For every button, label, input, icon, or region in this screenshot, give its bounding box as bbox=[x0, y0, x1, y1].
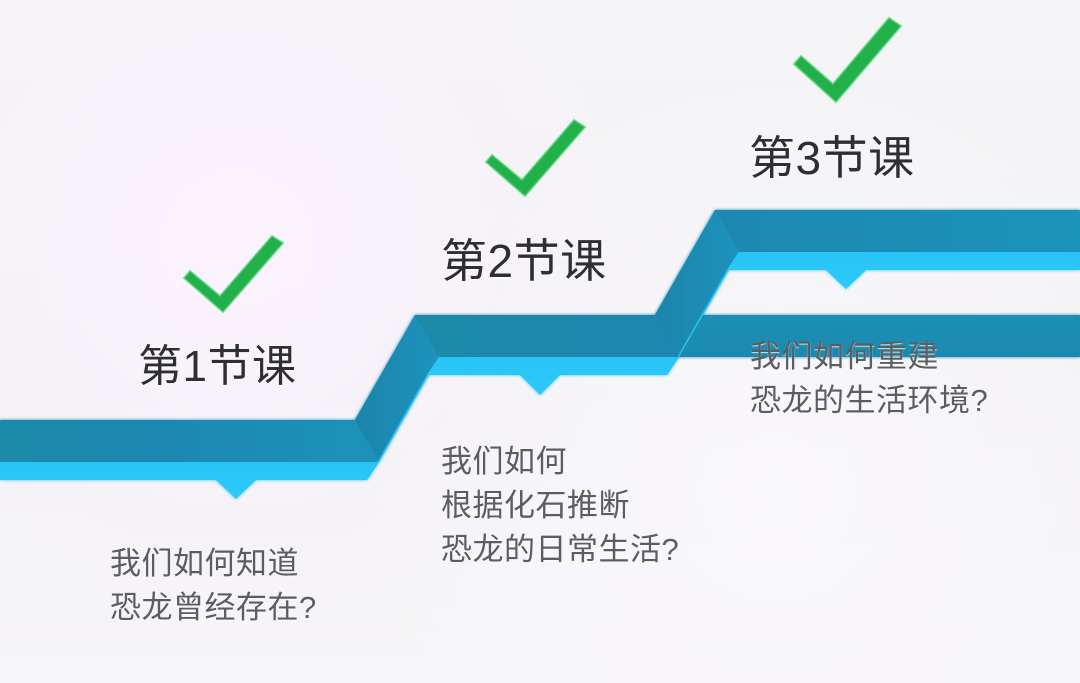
step-2-caption: 我们如何 根据化石推断 恐龙的日常生活? bbox=[441, 440, 679, 572]
step-1-caption: 我们如何知道 恐龙曾经存在? bbox=[110, 542, 317, 630]
green-check-icon bbox=[176, 232, 290, 316]
step-2-caption-line-3: 恐龙的日常生活? bbox=[441, 528, 679, 572]
step-3-caption: 我们如何重建 恐龙的生活环境? bbox=[750, 335, 988, 423]
step-3-title: 第3节课 bbox=[749, 122, 915, 188]
green-check-icon bbox=[478, 116, 592, 200]
step-3-caption-line-1: 我们如何重建 bbox=[750, 335, 988, 379]
step-2-caption-line-2: 根据化石推断 bbox=[441, 484, 679, 528]
step-1-caption-line-2: 恐龙曾经存在? bbox=[110, 586, 317, 630]
step-2-caption-line-1: 我们如何 bbox=[441, 440, 679, 484]
step-3-caption-line-2: 恐龙的生活环境? bbox=[750, 379, 988, 423]
step-1-title: 第1节课 bbox=[138, 330, 296, 394]
step-1-caption-line-1: 我们如何知道 bbox=[110, 542, 317, 586]
step-2-title: 第2节课 bbox=[441, 225, 607, 291]
infographic-canvas: 第1节课 我们如何知道 恐龙曾经存在? 第2节课 我们如何 根据化石推断 恐龙的… bbox=[0, 0, 1080, 683]
green-check-icon bbox=[786, 14, 908, 106]
